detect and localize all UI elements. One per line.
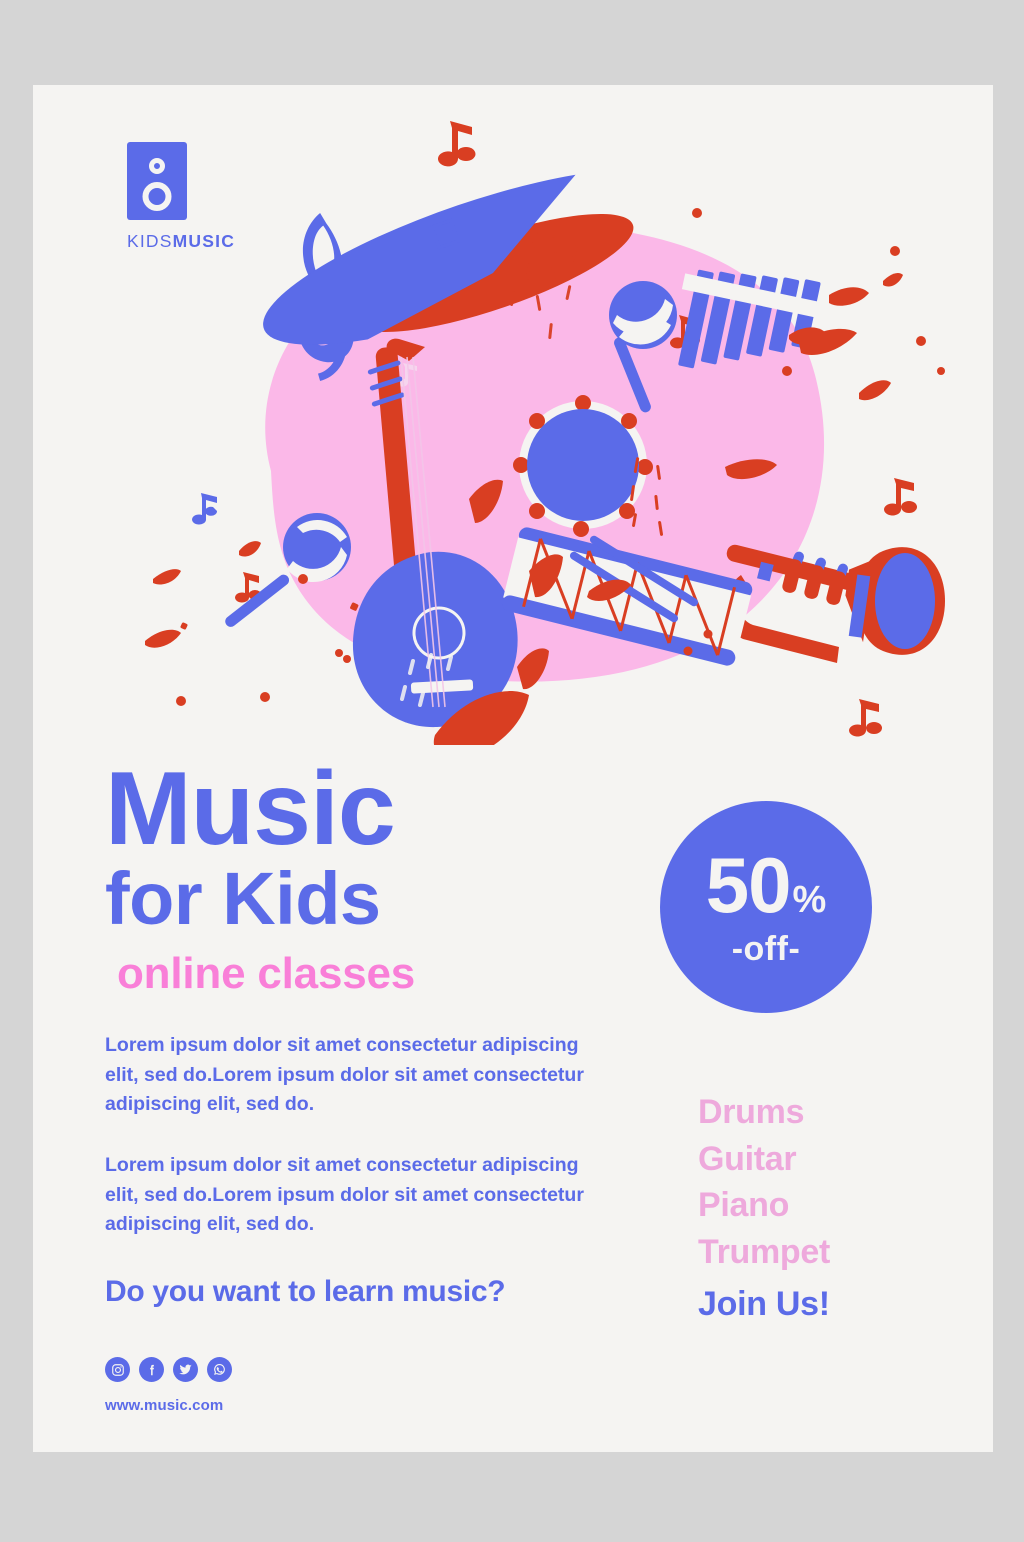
tambourine xyxy=(513,395,653,537)
headline-group: Music for Kids online classes xyxy=(105,760,665,996)
brand-logo[interactable]: KIDSMUSIC xyxy=(127,142,357,252)
confetti xyxy=(145,208,945,745)
speaker-icon xyxy=(127,142,187,220)
pink-blob xyxy=(265,226,824,682)
music-note-icon xyxy=(849,699,882,736)
body-paragraph-2: Lorem ipsum dolor sit amet consectetur a… xyxy=(105,1151,605,1240)
maraca xyxy=(609,281,677,414)
music-note-icon xyxy=(884,478,917,515)
lute xyxy=(353,339,518,727)
instagram-icon[interactable] xyxy=(105,1357,130,1382)
discount-badge[interactable]: 50 % -off- xyxy=(660,801,872,1013)
tagline: online classes xyxy=(117,952,665,996)
cta-question: Do you want to learn music? xyxy=(105,1275,505,1309)
poster-sheet: KIDSMUSIC Music for Kids online classes … xyxy=(33,85,993,1452)
list-item[interactable]: Trumpet xyxy=(698,1229,948,1276)
brand-name-kids: KIDS xyxy=(127,231,173,251)
speaker-tweeter xyxy=(149,158,165,174)
discount-number: 50 xyxy=(706,846,791,924)
music-note-icon xyxy=(670,315,700,348)
social-links xyxy=(105,1357,232,1382)
confetti xyxy=(510,231,578,339)
music-note-icon xyxy=(235,572,261,603)
twitter-icon[interactable] xyxy=(173,1357,198,1382)
list-item[interactable]: Piano xyxy=(698,1182,948,1229)
drumsticks xyxy=(568,534,712,655)
list-item[interactable]: Guitar xyxy=(698,1136,948,1183)
page-title: Music xyxy=(105,760,665,860)
trumpet xyxy=(724,543,945,663)
instrument-list: Drums Guitar Piano Trumpet xyxy=(698,1089,948,1275)
xylophone xyxy=(678,269,824,368)
discount-label: -off- xyxy=(732,930,801,969)
join-us-cta[interactable]: Join Us! xyxy=(698,1285,830,1324)
page-subtitle: for Kids xyxy=(105,862,665,936)
website-link[interactable]: www.music.com xyxy=(105,1397,223,1414)
music-note-icon xyxy=(192,493,217,525)
music-note-icon xyxy=(397,363,417,387)
speaker-woofer xyxy=(143,182,172,211)
brand-wordmark: KIDSMUSIC xyxy=(127,231,357,252)
confetti xyxy=(630,457,663,536)
brand-name-music: MUSIC xyxy=(173,231,235,251)
music-note-icon xyxy=(414,241,440,271)
discount-percent-symbol: % xyxy=(792,881,826,919)
maraca xyxy=(223,513,351,629)
body-copy: Lorem ipsum dolor sit amet consectetur a… xyxy=(105,1031,605,1271)
music-note-icon xyxy=(438,121,475,166)
list-item[interactable]: Drums xyxy=(698,1089,948,1136)
whatsapp-icon[interactable] xyxy=(207,1357,232,1382)
facebook-icon[interactable] xyxy=(139,1357,164,1382)
snare-drum xyxy=(500,526,754,668)
body-paragraph-1: Lorem ipsum dolor sit amet consectetur a… xyxy=(105,1031,605,1120)
discount-value-row: 50 % xyxy=(706,846,827,924)
